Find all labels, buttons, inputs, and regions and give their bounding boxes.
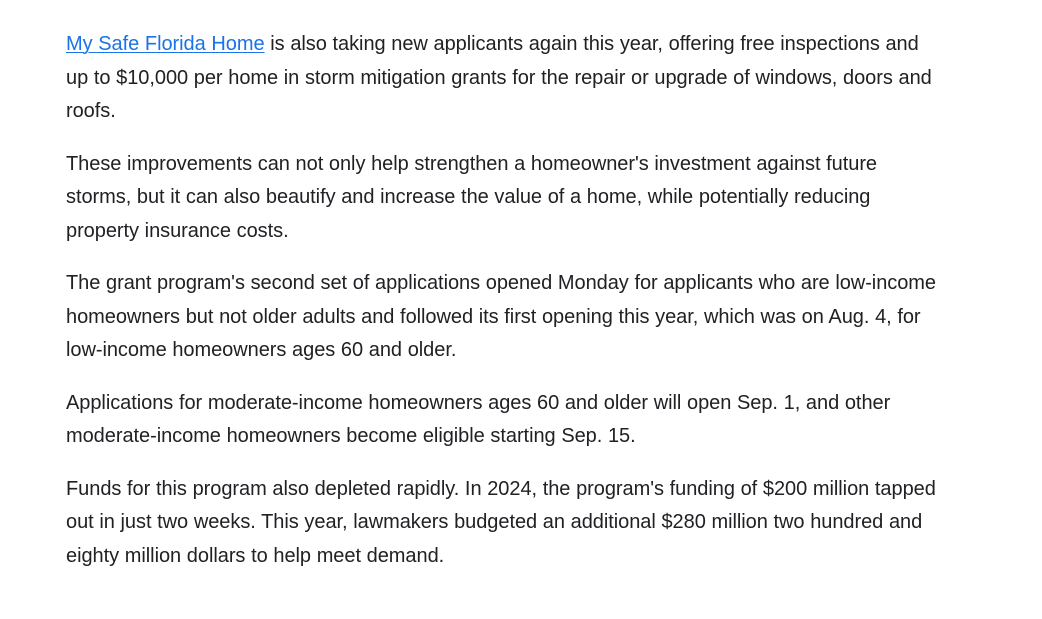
article-paragraph-4: Applications for moderate-income homeown…	[66, 387, 938, 454]
article-paragraph-1: My Safe Florida Home is also taking new …	[66, 28, 938, 129]
my-safe-florida-home-link[interactable]: My Safe Florida Home	[66, 33, 265, 55]
article-body: My Safe Florida Home is also taking new …	[0, 0, 1042, 573]
article-paragraph-5: Funds for this program also depleted rap…	[66, 473, 938, 574]
article-paragraph-2: These improvements can not only help str…	[66, 148, 938, 249]
article-paragraph-3: The grant program's second set of applic…	[66, 267, 938, 368]
